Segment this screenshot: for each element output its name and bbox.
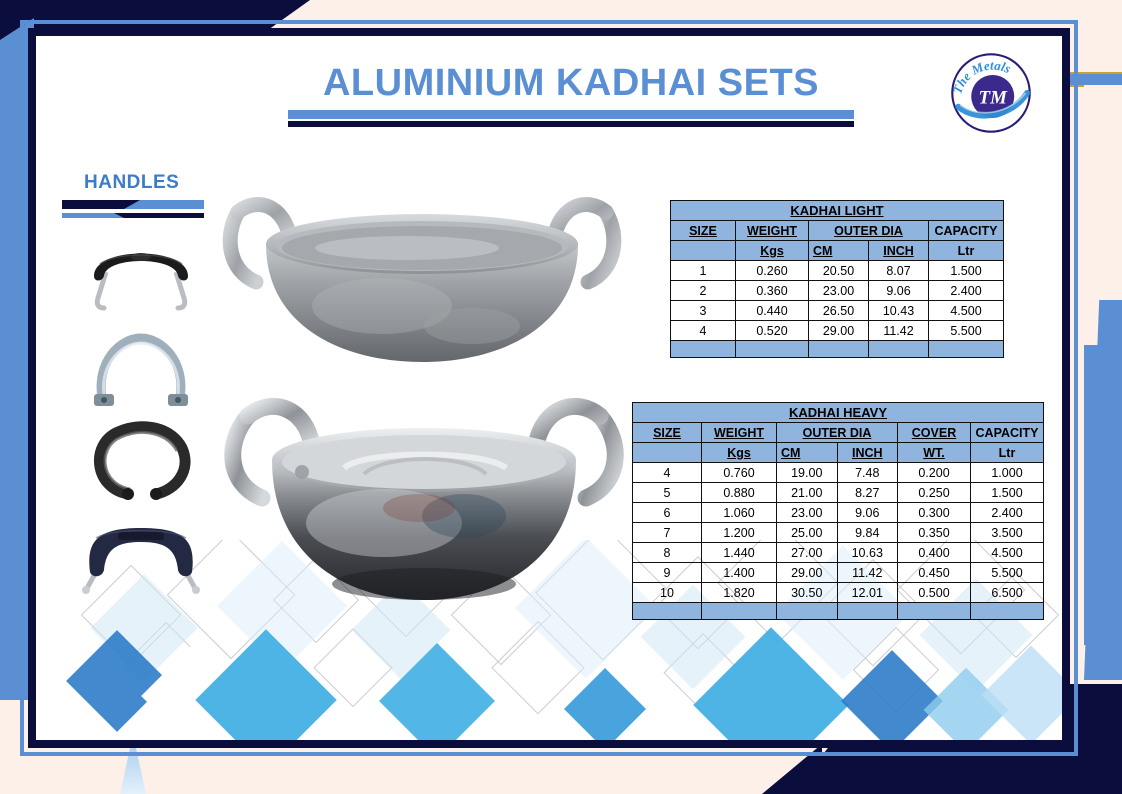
table-kadhai-light: KADHAI LIGHT SIZE WEIGHT OUTER DIA CAPAC… xyxy=(670,200,1004,358)
cell-inch: 9.84 xyxy=(837,523,898,543)
cell-inch: 8.27 xyxy=(837,483,898,503)
cell-cover-wt: 0.500 xyxy=(898,583,971,603)
cell-cm: 26.50 xyxy=(809,301,869,321)
table-row: 7 1.200 25.00 9.84 0.350 3.500 xyxy=(633,523,1044,543)
unit-kgs: Kgs xyxy=(760,244,784,258)
table-light-title: KADHAI LIGHT xyxy=(790,203,883,218)
unit-kgs: Kgs xyxy=(727,446,751,460)
table-row: 4 0.520 29.00 11.42 5.500 xyxy=(671,321,1004,341)
unit-ltr: Ltr xyxy=(958,244,975,258)
cell-capacity: 4.500 xyxy=(929,301,1004,321)
kadhai-heavy-photo xyxy=(214,388,634,608)
handle-flat-grip-image xyxy=(76,510,206,596)
cell-capacity: 1.000 xyxy=(971,463,1044,483)
handles-heading: HANDLES xyxy=(84,172,179,194)
cell-cover-wt: 0.300 xyxy=(898,503,971,523)
table-row: 9 1.400 29.00 11.42 0.450 5.500 xyxy=(633,563,1044,583)
cell-cm: 27.00 xyxy=(777,543,838,563)
cell-capacity: 6.500 xyxy=(971,583,1044,603)
table-footer-row xyxy=(671,341,1004,358)
handles-heading-bar xyxy=(62,200,204,222)
table-footer-row xyxy=(633,603,1044,620)
col-outer-dia: OUTER DIA xyxy=(834,224,903,238)
cell-weight: 1.400 xyxy=(702,563,777,583)
cell-inch: 11.42 xyxy=(869,321,929,341)
cell-weight: 0.440 xyxy=(736,301,809,321)
unit-cm: CM xyxy=(781,446,800,460)
cell-inch: 12.01 xyxy=(837,583,898,603)
cell-inch: 7.48 xyxy=(837,463,898,483)
cell-size: 1 xyxy=(671,261,736,281)
cell-weight: 1.820 xyxy=(702,583,777,603)
cell-capacity: 1.500 xyxy=(929,261,1004,281)
brand-logo: The Metals TM xyxy=(948,50,1034,136)
cell-cover-wt: 0.350 xyxy=(898,523,971,543)
cell-inch: 10.43 xyxy=(869,301,929,321)
cell-size: 4 xyxy=(671,321,736,341)
cell-cover-wt: 0.200 xyxy=(898,463,971,483)
cell-weight: 0.360 xyxy=(736,281,809,301)
cell-weight: 0.520 xyxy=(736,321,809,341)
col-capacity: CAPACITY xyxy=(976,426,1039,440)
cell-capacity: 2.400 xyxy=(971,503,1044,523)
cell-size: 6 xyxy=(633,503,702,523)
cell-inch: 8.07 xyxy=(869,261,929,281)
cell-capacity: 5.500 xyxy=(971,563,1044,583)
cell-cm: 30.50 xyxy=(777,583,838,603)
cell-capacity: 1.500 xyxy=(971,483,1044,503)
cell-cover-wt: 0.450 xyxy=(898,563,971,583)
col-weight: WEIGHT xyxy=(714,426,764,440)
handle-chrome-wire-image xyxy=(76,324,206,410)
cell-capacity: 4.500 xyxy=(971,543,1044,563)
cell-weight: 1.440 xyxy=(702,543,777,563)
table-row: 3 0.440 26.50 10.43 4.500 xyxy=(671,301,1004,321)
catalog-card: ALUMINIUM KADHAI SETS The Metals TM HAND… xyxy=(36,36,1062,740)
handle-bakelite-black-image xyxy=(76,232,206,318)
table-row: 8 1.440 27.00 10.63 0.400 4.500 xyxy=(633,543,1044,563)
table-row: 1 0.260 20.50 8.07 1.500 xyxy=(671,261,1004,281)
table-row: 6 1.060 23.00 9.06 0.300 2.400 xyxy=(633,503,1044,523)
cell-weight: 0.760 xyxy=(702,463,777,483)
title-underline-blue xyxy=(288,110,854,119)
cell-inch: 9.06 xyxy=(837,503,898,523)
cell-cover-wt: 0.400 xyxy=(898,543,971,563)
cell-capacity: 3.500 xyxy=(971,523,1044,543)
cell-weight: 1.200 xyxy=(702,523,777,543)
cell-cm: 21.00 xyxy=(777,483,838,503)
logo-monogram: TM xyxy=(979,87,1009,108)
cell-weight: 1.060 xyxy=(702,503,777,523)
cell-inch: 9.06 xyxy=(869,281,929,301)
cell-weight: 0.880 xyxy=(702,483,777,503)
table-row: 5 0.880 21.00 8.27 0.250 1.500 xyxy=(633,483,1044,503)
cell-size: 4 xyxy=(633,463,702,483)
col-weight: WEIGHT xyxy=(747,224,797,238)
page-title: ALUMINIUM KADHAI SETS xyxy=(286,62,856,105)
title-underline-navy xyxy=(288,121,854,127)
unit-cover-wt: WT. xyxy=(923,446,945,460)
col-capacity: CAPACITY xyxy=(935,224,998,238)
cell-weight: 0.260 xyxy=(736,261,809,281)
table-row: 2 0.360 23.00 9.06 2.400 xyxy=(671,281,1004,301)
table-heavy-title: KADHAI HEAVY xyxy=(789,405,887,420)
cell-size: 9 xyxy=(633,563,702,583)
cell-cm: 23.00 xyxy=(777,503,838,523)
cell-cm: 23.00 xyxy=(809,281,869,301)
table-row: 10 1.820 30.50 12.01 0.500 6.500 xyxy=(633,583,1044,603)
cell-size: 7 xyxy=(633,523,702,543)
cell-size: 8 xyxy=(633,543,702,563)
cell-cm: 19.00 xyxy=(777,463,838,483)
cell-cm: 29.00 xyxy=(809,321,869,341)
cell-cover-wt: 0.250 xyxy=(898,483,971,503)
cell-cm: 29.00 xyxy=(777,563,838,583)
col-cover: COVER xyxy=(912,426,956,440)
cell-capacity: 2.400 xyxy=(929,281,1004,301)
kadhai-light-photo xyxy=(222,186,622,366)
col-size: SIZE xyxy=(653,426,681,440)
unit-cm: CM xyxy=(813,244,832,258)
col-outer-dia: OUTER DIA xyxy=(803,426,872,440)
cell-size: 5 xyxy=(633,483,702,503)
handle-c-ring-image xyxy=(76,418,206,504)
cell-cm: 20.50 xyxy=(809,261,869,281)
cell-size: 10 xyxy=(633,583,702,603)
unit-ltr: Ltr xyxy=(999,446,1016,460)
cell-size: 2 xyxy=(671,281,736,301)
cell-capacity: 5.500 xyxy=(929,321,1004,341)
cell-cm: 25.00 xyxy=(777,523,838,543)
cell-inch: 11.42 xyxy=(837,563,898,583)
cell-size: 3 xyxy=(671,301,736,321)
cell-inch: 10.63 xyxy=(837,543,898,563)
table-row: 4 0.760 19.00 7.48 0.200 1.000 xyxy=(633,463,1044,483)
table-kadhai-heavy: KADHAI HEAVY SIZE WEIGHT OUTER DIA COVER… xyxy=(632,402,1044,620)
unit-inch: INCH xyxy=(852,446,883,460)
unit-inch: INCH xyxy=(883,244,914,258)
col-size: SIZE xyxy=(689,224,717,238)
